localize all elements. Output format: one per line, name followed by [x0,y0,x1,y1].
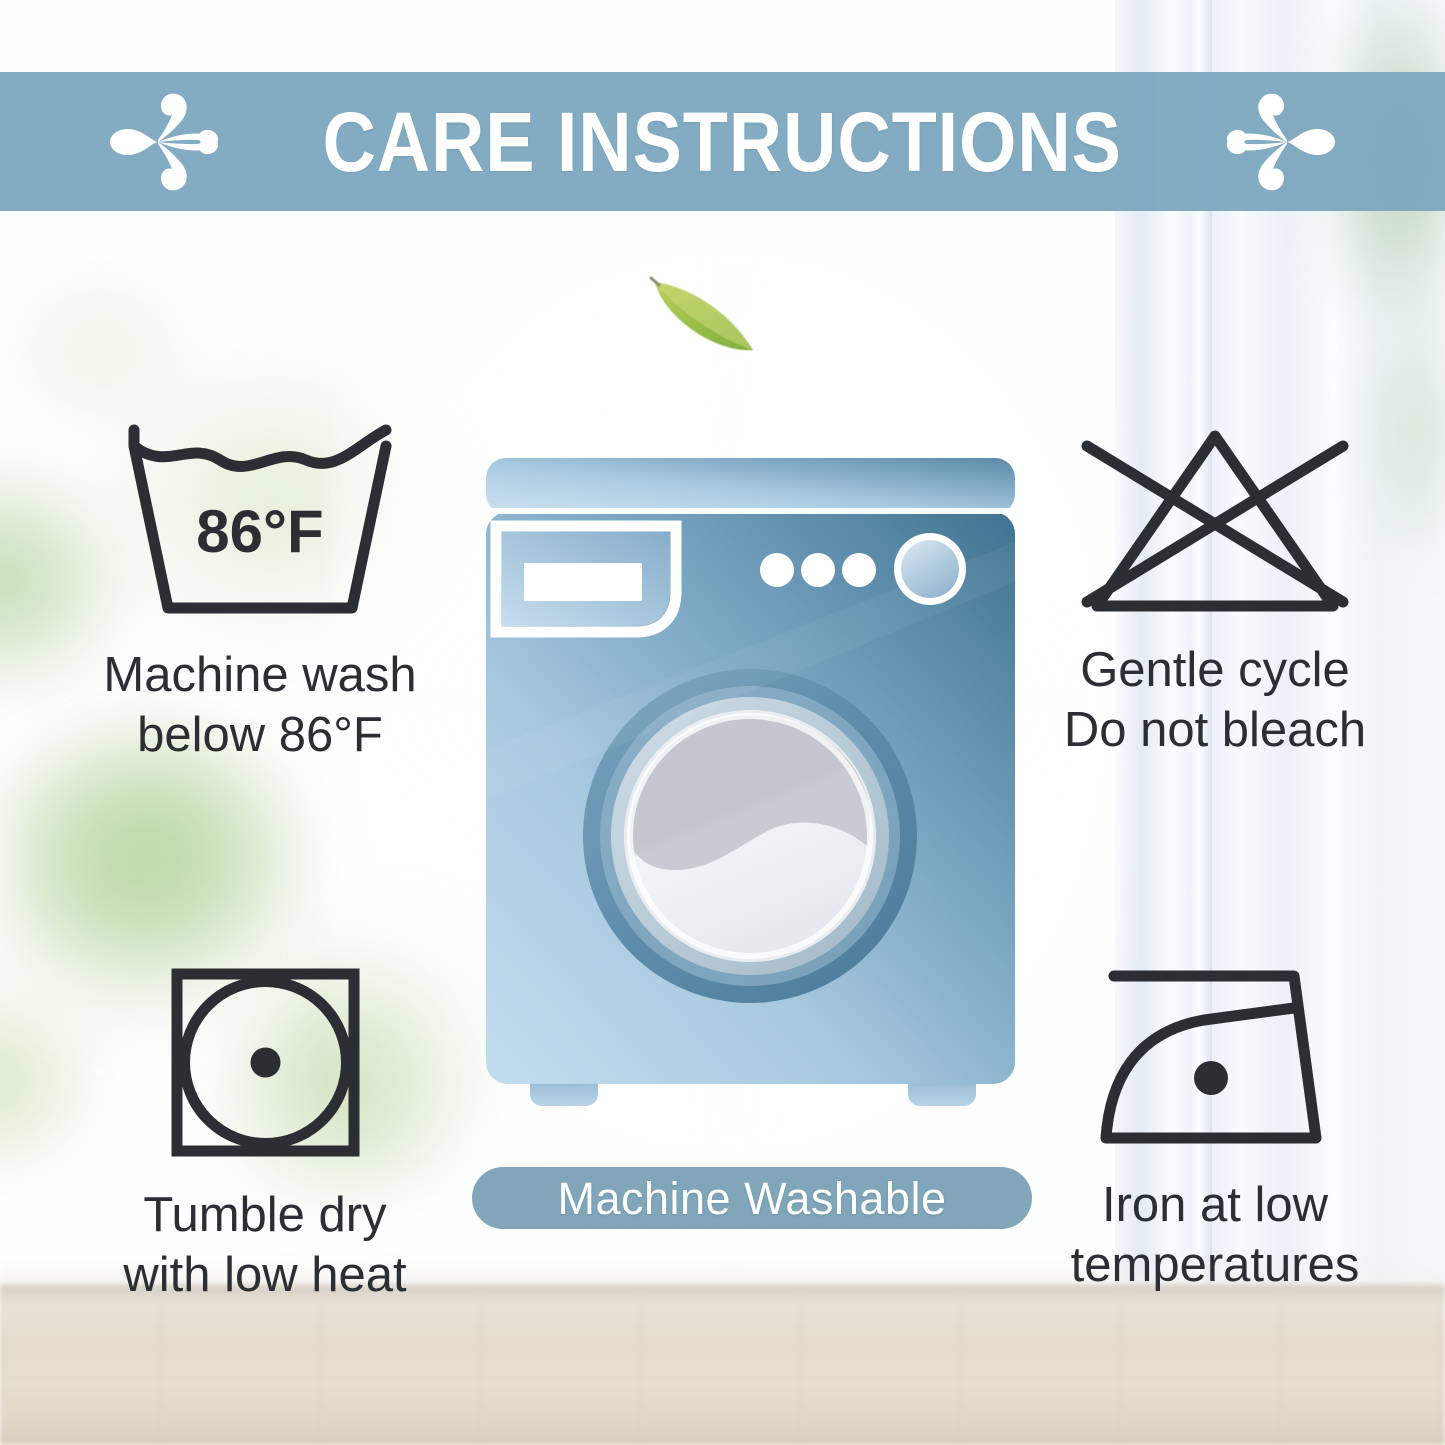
wash-tub-icon: 86°F [110,420,410,630]
indicator-dot [801,553,835,587]
caption-line-1: Machine wash [103,648,416,702]
badge-label: Machine Washable [557,1176,946,1221]
wash-temperature-value: 86°F [196,498,323,565]
care-symbol-do-not-bleach: Gentle cycle Do not bleach [1000,420,1430,761]
care-symbol-iron-low: Iron at low temperatures [1000,960,1430,1296]
care-instructions-infographic: CARE INSTRUCTIONS [0,0,1445,1445]
indicator-dot [760,553,794,587]
machine-top-panel [486,458,1015,514]
drawer-slot [524,563,642,601]
care-symbol-caption: Iron at low temperatures [1071,1176,1360,1296]
fleur-de-lis-icon [1221,90,1353,194]
header-banner: CARE INSTRUCTIONS [0,72,1445,211]
caption-line-2: with low heat [123,1248,406,1302]
caption-line-1: Tumble dry [143,1188,386,1242]
caption-line-2: temperatures [1071,1238,1360,1292]
tumble-dry-low-icon [163,960,368,1170]
care-symbol-caption: Gentle cycle Do not bleach [1064,641,1366,761]
washing-machine-illustration [478,450,1023,1130]
caption-line-1: Iron at low [1102,1178,1328,1232]
leaf-icon [645,272,775,367]
care-symbol-machine-wash: 86°F Machine wash below 86°F [50,420,470,766]
iron-low-heat-icon [1088,960,1343,1160]
care-symbol-tumble-dry: Tumble dry with low heat [55,960,475,1306]
caption-line-2: Do not bleach [1064,703,1366,757]
indicator-dot [842,553,876,587]
background-wood-grain [0,1285,1445,1445]
crossed-triangle-icon [1065,420,1365,625]
caption-line-1: Gentle cycle [1080,643,1350,697]
page-title: CARE INSTRUCTIONS [323,100,1122,184]
fleur-de-lis-icon [92,90,224,194]
care-symbol-caption: Machine wash below 86°F [103,646,416,766]
machine-washable-badge: Machine Washable [472,1167,1032,1229]
detergent-drawer [496,526,676,632]
caption-line-2: below 86°F [137,708,383,762]
care-symbol-caption: Tumble dry with low heat [123,1186,406,1306]
